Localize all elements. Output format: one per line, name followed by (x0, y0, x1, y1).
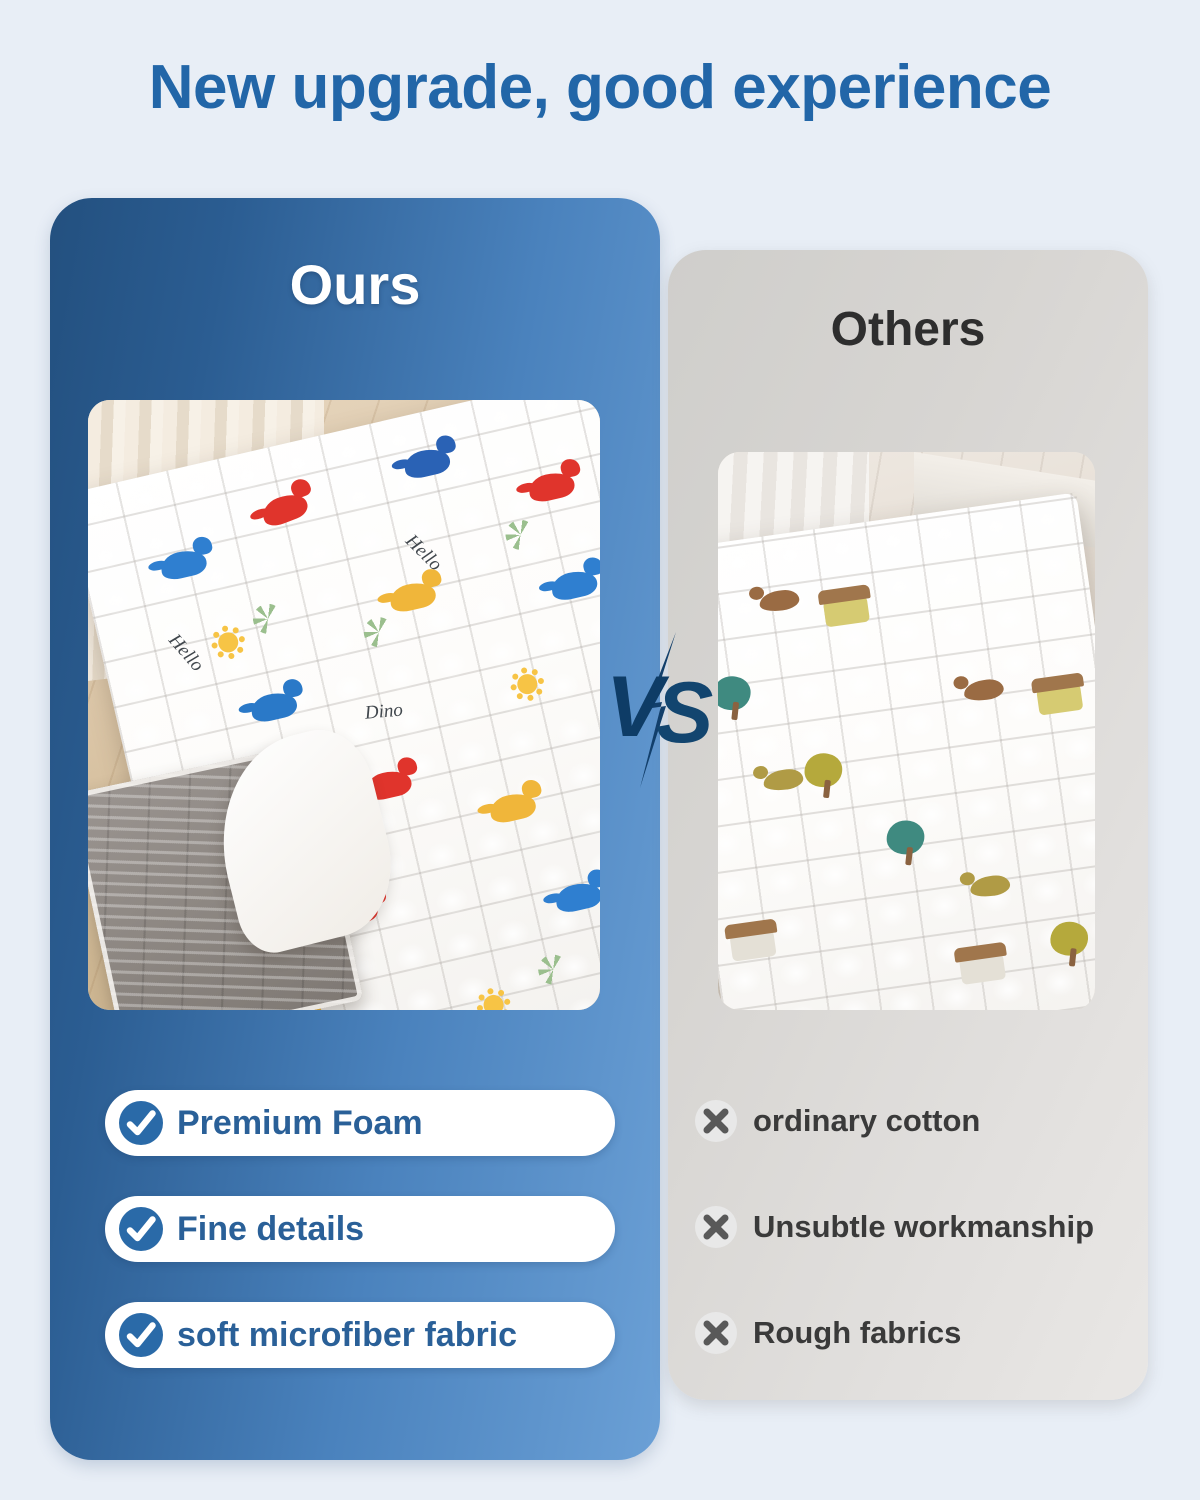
others-heading: Others (668, 302, 1148, 357)
svg-text:S: S (656, 665, 713, 761)
x-circle-icon (692, 1097, 740, 1145)
ours-panel: Ours (50, 198, 660, 1460)
ordinary-quilted-mat (718, 492, 1095, 1010)
con-label: Unsubtle workmanship (753, 1209, 1094, 1245)
check-circle-icon (118, 1312, 164, 1358)
feature-label: Premium Foam (177, 1104, 423, 1143)
feature-pill-premium-foam[interactable]: Premium Foam (105, 1090, 615, 1156)
page-title: New upgrade, good experience (0, 52, 1200, 123)
check-circle-icon (118, 1206, 164, 1252)
feature-label: Fine details (177, 1210, 364, 1249)
quilt-texture (718, 492, 1095, 1010)
con-label: ordinary cotton (753, 1103, 980, 1139)
ours-heading: Ours (50, 252, 660, 317)
vs-badge: V S (600, 630, 720, 790)
feature-pill-soft-microfiber-fabric[interactable]: soft microfiber fabric (105, 1302, 615, 1368)
check-circle-icon (118, 1100, 164, 1146)
feature-label: soft microfiber fabric (177, 1316, 517, 1355)
mat-word-dino-1: Dino (364, 700, 404, 725)
x-circle-icon (692, 1203, 740, 1251)
others-panel: Others (668, 250, 1148, 1400)
con-item-rough-fabrics[interactable]: Rough fabrics (692, 1307, 1132, 1359)
feature-pill-fine-details[interactable]: Fine details (105, 1196, 615, 1262)
others-product-photo (718, 452, 1095, 1010)
ours-product-photo: Hello Hello Dino Dino Hello (88, 400, 600, 1010)
con-item-unsubtle-workmanship[interactable]: Unsubtle workmanship (692, 1201, 1132, 1253)
x-circle-icon (692, 1309, 740, 1357)
con-label: Rough fabrics (753, 1315, 961, 1351)
con-item-ordinary-cotton[interactable]: ordinary cotton (692, 1095, 1132, 1147)
